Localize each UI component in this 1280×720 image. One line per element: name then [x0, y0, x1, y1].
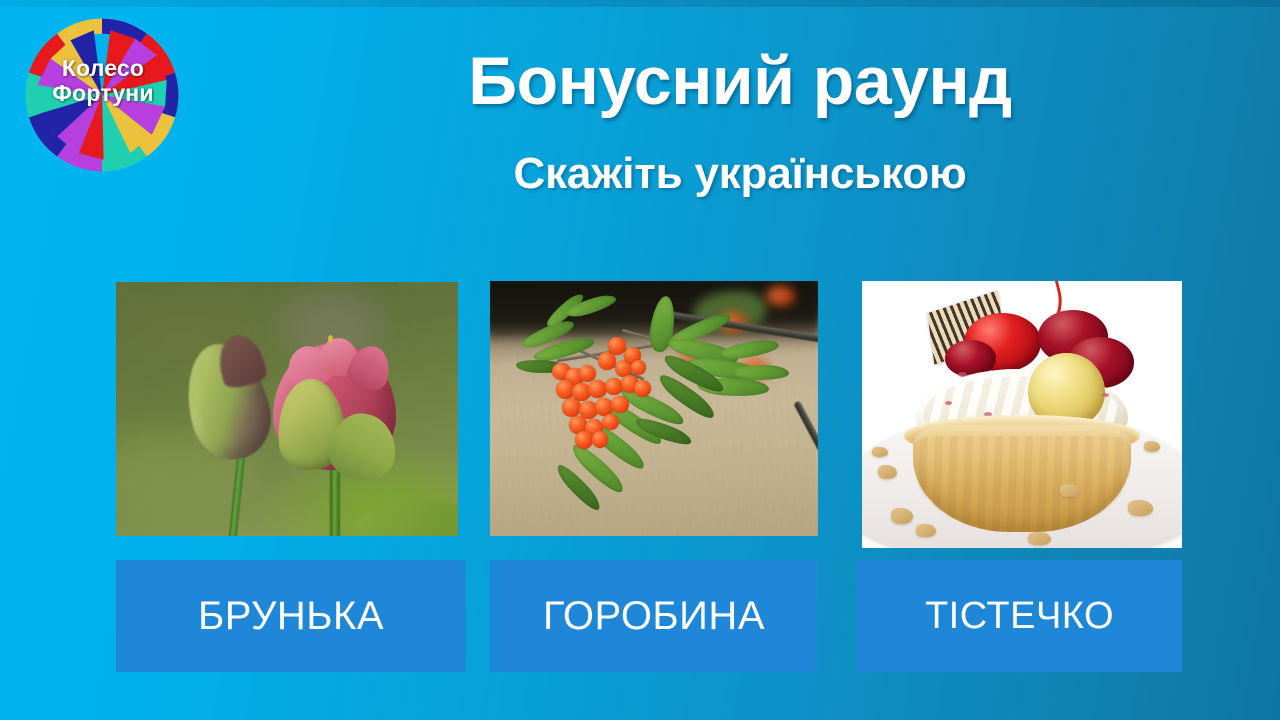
wheel-of-fortune-logo[interactable]: Колесо Фортуни: [8, 8, 198, 180]
slide-canvas: Колесо Фортуни Бонусний раунд Скажіть ук…: [0, 0, 1280, 720]
answer-label-1[interactable]: БРУНЬКА: [116, 560, 466, 672]
page-subtitle: Скажіть українською: [215, 148, 1265, 200]
photo-rowan-berries: [490, 281, 818, 536]
photo-tartlet-cake: [862, 281, 1182, 548]
page-title: Бонусний раунд: [215, 43, 1265, 119]
photo-lotus-bud: [116, 282, 458, 536]
answer-label-2[interactable]: ГОРОБИНА: [490, 560, 818, 672]
fortune-wheel-icon: [16, 12, 188, 178]
answer-label-3[interactable]: ТІСТЕЧКО: [857, 560, 1182, 672]
